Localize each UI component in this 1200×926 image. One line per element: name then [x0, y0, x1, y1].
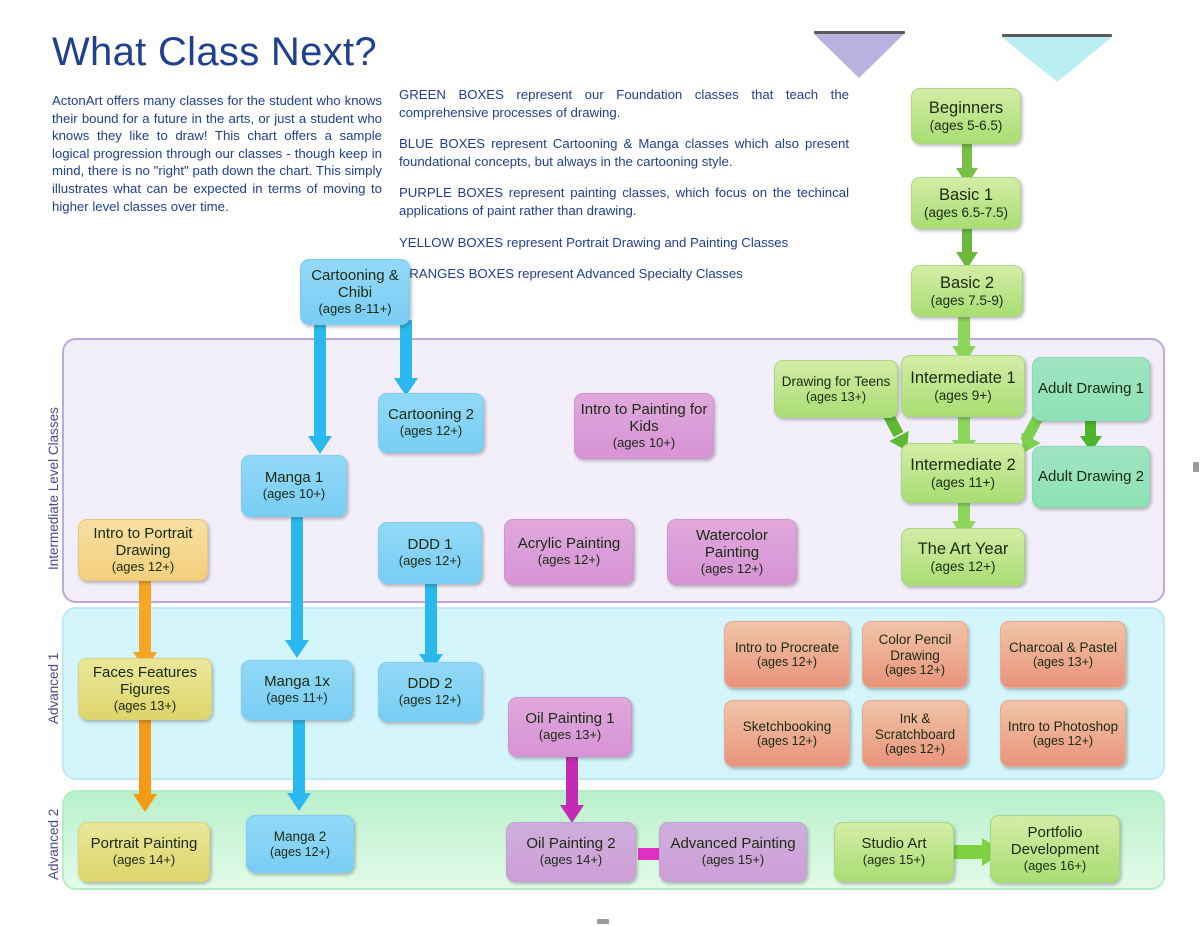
class-age: (ages 12+)	[400, 424, 463, 439]
class-title: Oil Painting 2	[526, 836, 615, 853]
class-age: (ages 13+)	[114, 699, 177, 714]
legend-blue: BLUE BOXES represent Cartooning & Manga …	[399, 135, 849, 170]
class-title: Acrylic Painting	[518, 536, 621, 553]
class-age: (ages 5-6.5)	[930, 118, 1003, 133]
class-age: (ages 7.5-9)	[931, 293, 1004, 308]
class-box-cartooning2[interactable]: Cartooning 2 (ages 12+)	[378, 393, 484, 453]
class-title: Portfolio Development	[996, 825, 1114, 859]
class-box-ddd2[interactable]: DDD 2 (ages 12+)	[378, 662, 482, 722]
class-box-intermediate1[interactable]: Intermediate 1 (ages 9+)	[901, 355, 1025, 417]
class-box-cartooning-chibi[interactable]: Cartooning & Chibi (ages 8-11+)	[300, 259, 410, 325]
class-age: (ages 12+)	[701, 562, 764, 577]
class-age: (ages 12+)	[885, 663, 945, 677]
class-age: (ages 14+)	[113, 853, 176, 868]
class-title: DDD 1	[407, 537, 452, 554]
class-age: (ages 10+)	[613, 436, 676, 451]
class-title: Beginners	[929, 99, 1003, 117]
class-box-charcoal-pastel[interactable]: Charcoal & Pastel (ages 13+)	[1000, 621, 1126, 688]
triangle-cyan-icon	[1002, 37, 1112, 82]
class-age: (ages 12+)	[399, 554, 462, 569]
class-box-art-year[interactable]: The Art Year (ages 12+)	[901, 528, 1025, 586]
class-title: Studio Art	[861, 836, 926, 853]
class-title: Ink & Scratchboard	[868, 711, 962, 741]
class-title: Cartooning 2	[388, 407, 474, 424]
arrow-manga1x-manga2	[287, 719, 311, 817]
class-age: (ages 15+)	[702, 853, 765, 868]
class-age: (ages 10+)	[263, 487, 326, 502]
band-label-intermediate: Intermediate Level Classes	[46, 407, 61, 570]
legend-yellow: YELLOW BOXES represent Portrait Drawing …	[399, 234, 849, 252]
class-age: (ages 12+)	[1033, 734, 1093, 748]
class-box-advanced-painting[interactable]: Advanced Painting (ages 15+)	[659, 822, 807, 882]
class-age: (ages 16+)	[1024, 859, 1087, 874]
class-age: (ages 13+)	[806, 390, 866, 404]
edge-mark-right	[1193, 462, 1199, 472]
class-box-studio-art[interactable]: Studio Art (ages 15+)	[834, 822, 954, 882]
arrow-oil1-oil2	[560, 755, 584, 829]
class-age: (ages 12+)	[931, 559, 996, 574]
class-box-manga1[interactable]: Manga 1 (ages 10+)	[241, 455, 347, 517]
class-box-intermediate2[interactable]: Intermediate 2 (ages 11+)	[901, 443, 1025, 503]
class-title: Adult Drawing 1	[1038, 381, 1144, 398]
legend-orange: ORANGES BOXES represent Advanced Special…	[399, 265, 849, 283]
class-box-manga2[interactable]: Manga 2 (ages 12+)	[246, 815, 354, 873]
chart-canvas: What Class Next? ActonArt offers many cl…	[0, 0, 1200, 926]
class-box-portrait-painting[interactable]: Portrait Painting (ages 14+)	[78, 822, 210, 882]
class-age: (ages 13+)	[1033, 655, 1093, 669]
class-title: Faces Features Figures	[84, 665, 206, 699]
edge-mark-bottom	[597, 919, 609, 924]
class-title: Manga 1x	[264, 674, 330, 691]
class-title: Intermediate 2	[910, 456, 1015, 474]
class-box-basic2[interactable]: Basic 2 (ages 7.5-9)	[911, 265, 1023, 317]
class-age: (ages 11+)	[266, 691, 328, 706]
class-age: (ages 14+)	[540, 853, 603, 868]
class-title: Intro to Portrait Drawing	[84, 526, 202, 560]
class-title: Advanced Painting	[670, 836, 795, 853]
class-box-ink-scratchboard[interactable]: Ink & Scratchboard (ages 12+)	[862, 700, 968, 767]
class-box-adult-drawing1[interactable]: Adult Drawing 1	[1032, 357, 1150, 421]
class-box-intro-painting-kids[interactable]: Intro to Painting for Kids (ages 10+)	[574, 393, 714, 459]
class-title: Watercolor Painting	[673, 528, 791, 562]
class-title: Portrait Painting	[91, 836, 198, 853]
legend-green: GREEN BOXES represent our Foundation cla…	[399, 86, 849, 121]
class-box-faces-features-figures[interactable]: Faces Features Figures (ages 13+)	[78, 658, 212, 720]
legend: GREEN BOXES represent our Foundation cla…	[399, 86, 849, 297]
class-box-intro-procreate[interactable]: Intro to Procreate (ages 12+)	[724, 621, 850, 688]
class-title: Basic 1	[939, 186, 993, 204]
class-box-color-pencil-drawing[interactable]: Color Pencil Drawing (ages 12+)	[862, 621, 968, 688]
class-box-adult-drawing2[interactable]: Adult Drawing 2	[1032, 446, 1150, 508]
class-title: Manga 1	[265, 470, 323, 487]
class-title: Sketchbooking	[743, 719, 832, 734]
class-box-manga1x[interactable]: Manga 1x (ages 11+)	[241, 660, 353, 720]
class-age: (ages 12+)	[757, 655, 817, 669]
band-label-advanced-1: Advanced 1	[46, 653, 61, 724]
class-box-acrylic-painting[interactable]: Acrylic Painting (ages 12+)	[504, 519, 634, 585]
class-age: (ages 11+)	[931, 475, 995, 490]
class-box-drawing-teens[interactable]: Drawing for Teens (ages 13+)	[774, 360, 898, 418]
legend-purple: PURPLE BOXES represent painting classes,…	[399, 184, 849, 219]
page-title: What Class Next?	[52, 30, 377, 75]
class-age: (ages 12+)	[112, 560, 175, 575]
class-box-beginners[interactable]: Beginners (ages 5-6.5)	[911, 88, 1021, 144]
class-title: Intermediate 1	[910, 369, 1015, 387]
class-age: (ages 12+)	[757, 734, 817, 748]
class-box-intro-portrait[interactable]: Intro to Portrait Drawing (ages 12+)	[78, 519, 208, 581]
class-title: Drawing for Teens	[782, 374, 891, 389]
class-box-basic1[interactable]: Basic 1 (ages 6.5-7.5)	[911, 177, 1021, 229]
class-age: (ages 6.5-7.5)	[924, 205, 1008, 220]
class-title: Intro to Photoshop	[1008, 719, 1118, 734]
class-age: (ages 12+)	[885, 742, 945, 756]
class-box-oil-painting1[interactable]: Oil Painting 1 (ages 13+)	[508, 697, 632, 757]
class-box-watercolor-painting[interactable]: Watercolor Painting (ages 12+)	[667, 519, 797, 585]
class-title: Charcoal & Pastel	[1009, 640, 1117, 655]
arrow-basic1-basic2	[956, 222, 978, 270]
class-title: Color Pencil Drawing	[868, 632, 962, 662]
class-title: Intro to Procreate	[735, 640, 839, 655]
arrow-manga1-manga1x	[285, 516, 309, 664]
triangle-purple-icon	[814, 34, 904, 78]
class-age: (ages 12+)	[399, 693, 462, 708]
class-title: Intro to Painting for Kids	[580, 402, 708, 436]
class-title: The Art Year	[918, 540, 1009, 558]
band-label-advanced-2: Advanced 2	[46, 809, 61, 880]
class-box-ddd1[interactable]: DDD 1 (ages 12+)	[378, 522, 482, 584]
class-box-oil-painting2[interactable]: Oil Painting 2 (ages 14+)	[506, 822, 636, 882]
intro-paragraph: ActonArt offers many classes for the stu…	[52, 92, 382, 215]
class-age: (ages 12+)	[538, 553, 601, 568]
arrow-cartooning-chibi-manga1	[308, 320, 332, 460]
class-box-portfolio-development[interactable]: Portfolio Development (ages 16+)	[990, 815, 1120, 883]
arrow-cartooning-chibi-cartooning2	[394, 320, 418, 402]
class-title: Manga 2	[274, 829, 327, 844]
class-age: (ages 15+)	[863, 853, 926, 868]
class-age: (ages 12+)	[270, 845, 330, 859]
class-box-sketchbooking[interactable]: Sketchbooking (ages 12+)	[724, 700, 850, 767]
class-title: Adult Drawing 2	[1038, 469, 1144, 486]
class-title: Basic 2	[940, 274, 994, 292]
class-age: (ages 9+)	[934, 388, 991, 403]
arrow-faces-portrait-painting	[133, 718, 157, 818]
class-age: (ages 8-11+)	[318, 302, 391, 317]
class-age: (ages 13+)	[539, 728, 602, 743]
class-box-intro-photoshop[interactable]: Intro to Photoshop (ages 12+)	[1000, 700, 1126, 767]
class-title: Cartooning & Chibi	[306, 268, 404, 302]
class-title: Oil Painting 1	[525, 711, 614, 728]
class-title: DDD 2	[407, 676, 452, 693]
